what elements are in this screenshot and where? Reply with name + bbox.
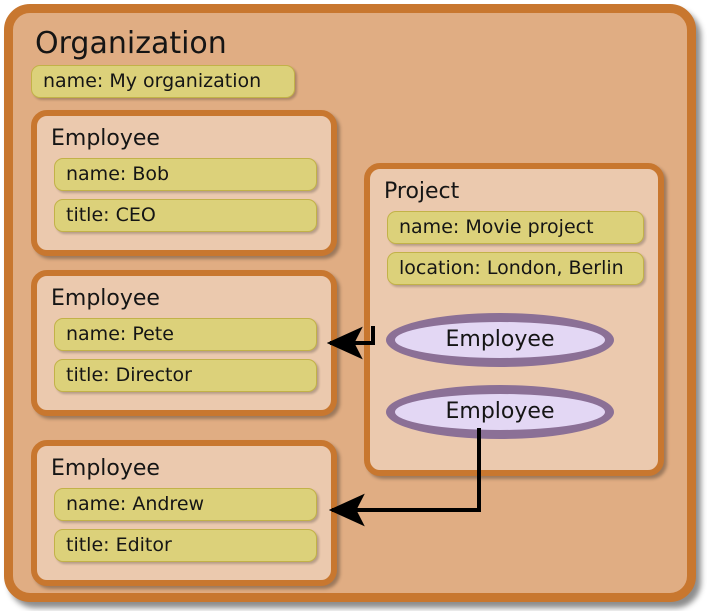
employee-andrew-attribute-name[interactable]: name: Andrew bbox=[54, 488, 317, 521]
organization-attribute-name[interactable]: name: My organization bbox=[31, 65, 295, 98]
project-attribute-location[interactable]: location: London, Berlin bbox=[387, 252, 644, 285]
project-attribute-name[interactable]: name: Movie project bbox=[387, 211, 644, 244]
employee-bob-attribute-name[interactable]: name: Bob bbox=[54, 158, 317, 191]
employee-bob-title: Employee bbox=[51, 128, 160, 150]
employee-bob[interactable]: Employee name: Bob title: CEO bbox=[31, 110, 337, 256]
employee-andrew-attribute-title[interactable]: title: Editor bbox=[54, 529, 317, 562]
employee-andrew-title: Employee bbox=[51, 458, 160, 480]
employee-andrew[interactable]: Employee name: Andrew title: Editor bbox=[31, 440, 337, 586]
project-node[interactable]: Project name: Movie project location: Lo… bbox=[364, 163, 664, 476]
employee-pete-title: Employee bbox=[51, 288, 160, 310]
employee-pete-attribute-name[interactable]: name: Pete bbox=[54, 318, 317, 351]
organization-title: Organization bbox=[35, 29, 227, 59]
organization-node[interactable]: Organization name: My organization Emplo… bbox=[4, 4, 696, 602]
employee-pete-attribute-title[interactable]: title: Director bbox=[54, 359, 317, 392]
employee-pete[interactable]: Employee name: Pete title: Director bbox=[31, 270, 337, 416]
project-title: Project bbox=[384, 181, 459, 203]
diagram-canvas: Organization name: My organization Emplo… bbox=[0, 0, 707, 611]
employee-bob-attribute-title[interactable]: title: CEO bbox=[54, 199, 317, 232]
project-employee-ref-2[interactable]: Employee bbox=[386, 385, 614, 439]
project-employee-ref-1[interactable]: Employee bbox=[386, 313, 614, 367]
